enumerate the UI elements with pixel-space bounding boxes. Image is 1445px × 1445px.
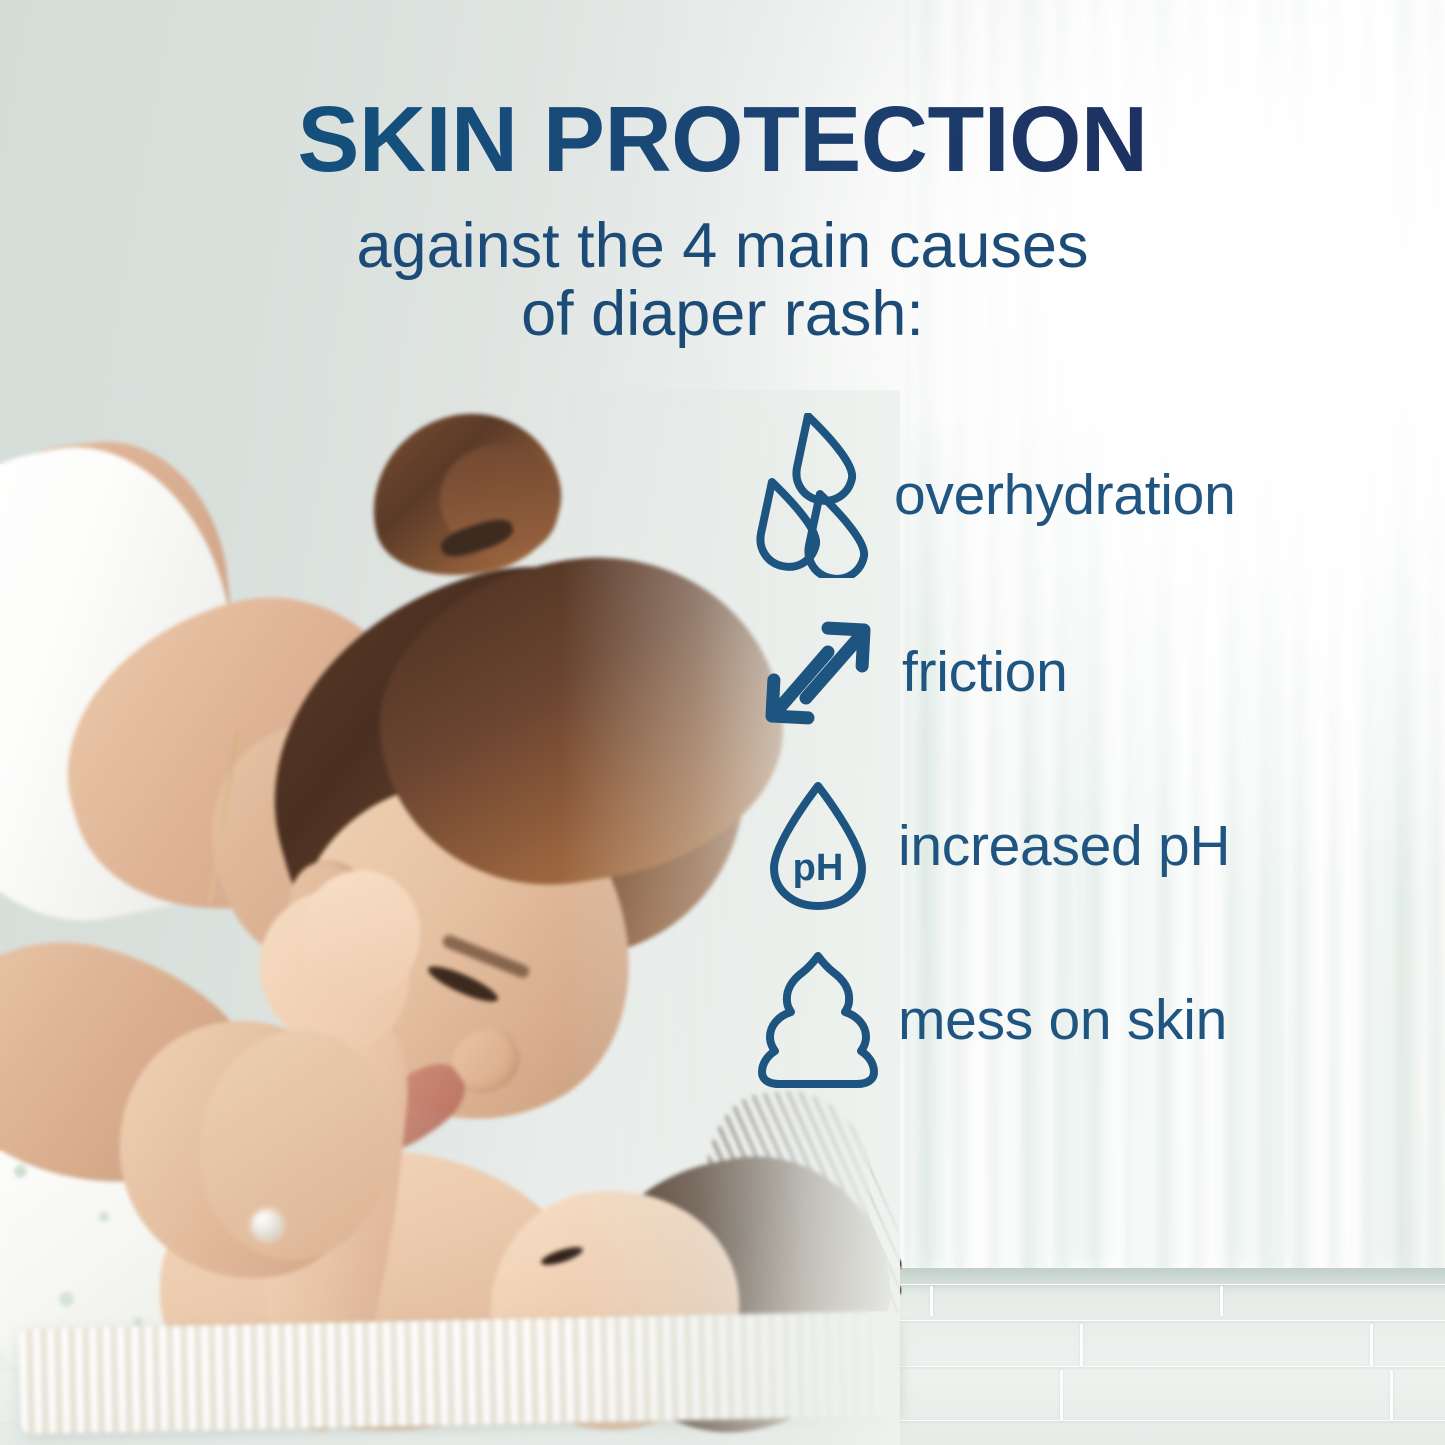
ph-icon-text: pH: [793, 847, 844, 889]
double-diagonal-arrow-icon: [748, 616, 888, 728]
page-subtitle: against the 4 main causes of diaper rash…: [0, 212, 1445, 348]
cause-label-friction: friction: [902, 639, 1067, 705]
promotional-image: SKIN PROTECTION against the 4 main cause…: [0, 0, 1445, 1445]
water-droplets-icon: [748, 413, 888, 578]
subtitle-line-2: of diaper rash:: [0, 280, 1445, 348]
causes-list: overhydration friction pH: [748, 404, 1368, 1106]
cause-label-increased-ph: increased pH: [898, 813, 1230, 879]
mother-and-baby-photo: [0, 390, 870, 1445]
cause-item-mess-on-skin: mess on skin: [748, 934, 1368, 1106]
subtitle-line-1: against the 4 main causes: [357, 211, 1089, 281]
cause-item-increased-ph: pH increased pH: [748, 758, 1368, 934]
cause-label-overhydration: overhydration: [894, 462, 1235, 528]
cause-item-overhydration: overhydration: [748, 404, 1368, 586]
page-title: SKIN PROTECTION: [0, 93, 1445, 186]
cause-item-friction: friction: [748, 586, 1368, 758]
mother-ring: [252, 1210, 282, 1240]
stool-icon: [748, 950, 888, 1090]
cause-label-mess-on-skin: mess on skin: [898, 987, 1227, 1053]
ph-droplet-icon: pH: [748, 780, 888, 912]
bath-rug: [19, 1311, 901, 1434]
